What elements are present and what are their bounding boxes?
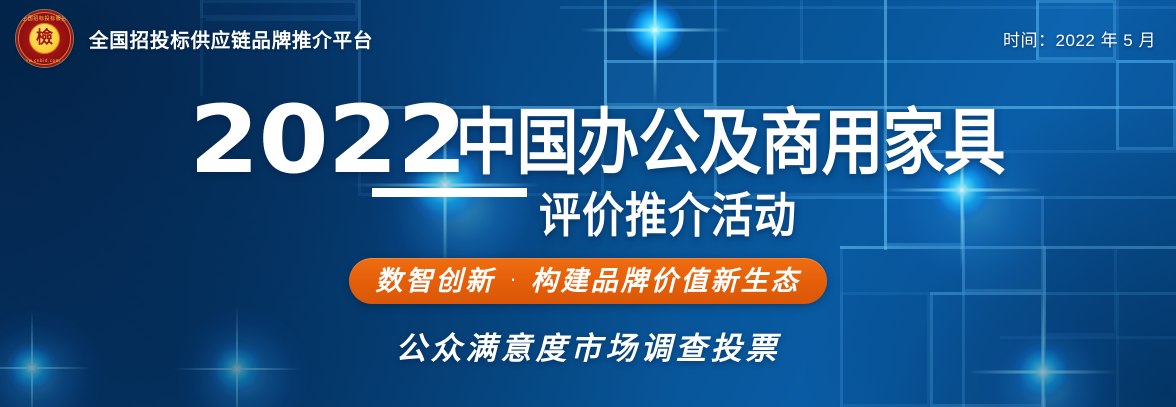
seal-arc-bottom-text: www.cnbid.com.cn bbox=[16, 58, 73, 63]
hero-title-row-secondary: 评价推介活动 bbox=[0, 186, 1176, 247]
hero-title-sub: 评价推介活动 bbox=[539, 177, 797, 247]
event-banner: 全国招标投标服务 檢 www.cnbid.com.cn 全国招投标供应链品牌推介… bbox=[0, 0, 1176, 407]
bottom-text-container: 公众满意度市场调查投票 bbox=[0, 334, 1176, 365]
event-timestamp: 时间：2022 年 5 月 bbox=[1003, 26, 1156, 51]
survey-vote-text: 公众满意度市场调查投票 bbox=[396, 334, 781, 365]
hero-title-block: 2022 中国办公及商用家具 评价推介活动 bbox=[0, 92, 1176, 247]
slogan-pill: 数智创新 · 构建品牌价值新生态 bbox=[349, 258, 826, 304]
hero-title-main: 中国办公及商用家具 bbox=[456, 110, 1005, 178]
hero-title-row-primary: 2022 中国办公及商用家具 bbox=[0, 92, 1176, 178]
slogan-left-text: 数智创新 bbox=[375, 268, 495, 295]
slogan-separator-dot: · bbox=[509, 268, 516, 290]
hero-year: 2022 bbox=[189, 101, 466, 178]
platform-title: 全国招投标供应链品牌推介平台 bbox=[89, 24, 373, 53]
slogan-container: 数智创新 · 构建品牌价值新生态 bbox=[0, 258, 1176, 304]
slogan-right-text: 构建品牌价值新生态 bbox=[531, 268, 801, 295]
hero-year-underline bbox=[372, 188, 527, 197]
organization-seal-logo[interactable]: 全国招标投标服务 檢 www.cnbid.com.cn bbox=[16, 10, 73, 67]
banner-header: 全国招标投标服务 檢 www.cnbid.com.cn 全国招投标供应链品牌推介… bbox=[0, 0, 1176, 76]
